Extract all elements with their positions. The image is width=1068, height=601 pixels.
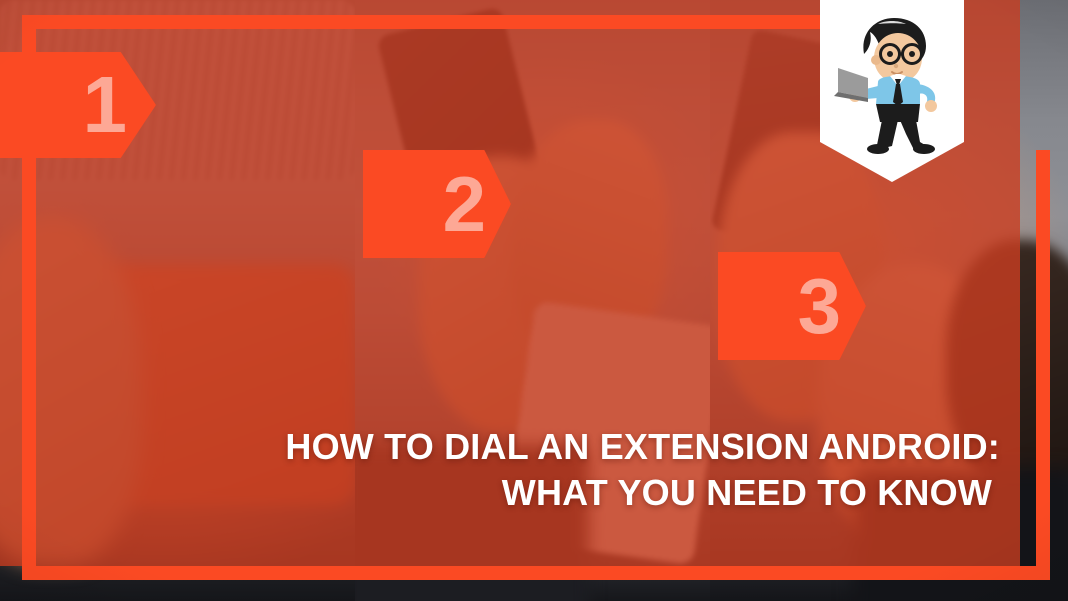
frame-border-right <box>1036 150 1050 580</box>
banner-title-line-2: WHAT YOU NEED TO KNOW <box>0 470 1000 516</box>
banner-graphic: 1 2 3 HOW TO DIAL AN EXTENSION ANDROID: … <box>0 0 1068 601</box>
step-marker-3: 3 <box>718 252 866 360</box>
banner-title-line-1: HOW TO DIAL AN EXTENSION ANDROID: <box>0 424 1000 470</box>
frame-border-bottom <box>22 566 1050 580</box>
step-marker-2: 2 <box>363 150 511 258</box>
man-with-laptop-logo-icon <box>820 6 964 156</box>
frame-border-top <box>22 15 822 29</box>
banner-title: HOW TO DIAL AN EXTENSION ANDROID: WHAT Y… <box>0 424 1008 516</box>
